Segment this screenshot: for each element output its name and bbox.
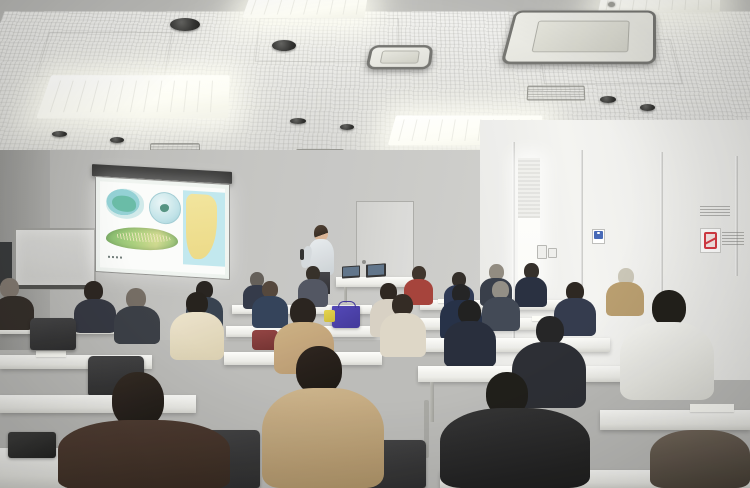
wall-outlet-plate[interactable] bbox=[548, 248, 557, 258]
ceiling-speaker-3 bbox=[52, 131, 67, 137]
ceiling-ac-unit-1 bbox=[500, 10, 656, 64]
attendee-body bbox=[380, 313, 426, 357]
attendee-body bbox=[114, 306, 160, 344]
ceiling-sprinkler-1 bbox=[608, 2, 615, 7]
attendee-body bbox=[650, 430, 750, 488]
ceiling-speaker-7 bbox=[600, 96, 616, 103]
attendee-body bbox=[444, 321, 496, 367]
attendee-body bbox=[74, 299, 116, 333]
ceiling-ac-unit-2 bbox=[365, 45, 433, 69]
handheld-microphone bbox=[300, 249, 304, 260]
wall-panel-seam-3 bbox=[660, 152, 663, 302]
presentation-slide bbox=[100, 181, 225, 274]
information-sign-blue bbox=[592, 229, 605, 244]
wall-panel-seam-4 bbox=[735, 156, 738, 276]
ceiling-speaker-6 bbox=[340, 124, 354, 130]
attendee-head bbox=[652, 290, 686, 326]
globe-inset bbox=[149, 191, 181, 225]
attendee-body bbox=[58, 420, 230, 488]
ceiling-panel-light-1 bbox=[36, 75, 229, 118]
ceiling-speaker-5 bbox=[290, 118, 306, 124]
attendee-body bbox=[0, 296, 34, 330]
attendee-body bbox=[515, 277, 547, 307]
nepal-terrain-map bbox=[106, 226, 178, 252]
attendee-head bbox=[536, 316, 564, 345]
ceiling-speaker-4 bbox=[110, 137, 124, 143]
chair-r4-1 bbox=[30, 318, 76, 350]
ceiling-speaker-1 bbox=[170, 18, 200, 31]
south-asia-map bbox=[183, 190, 225, 266]
tote-bag-blue bbox=[332, 306, 360, 328]
ceiling-air-vent-1 bbox=[527, 86, 586, 101]
table-leg-r4 bbox=[430, 382, 434, 422]
handout-papers-r4a bbox=[36, 351, 66, 357]
no-smoking-sign-red bbox=[700, 228, 721, 253]
lecture-hall-photo bbox=[0, 0, 750, 488]
table-row-5-left bbox=[0, 395, 196, 413]
map-scale-bar bbox=[108, 256, 122, 259]
window-blinds bbox=[518, 158, 540, 218]
door-knob[interactable] bbox=[362, 260, 366, 264]
table-row-3-right bbox=[412, 338, 610, 352]
ceiling-speaker-8 bbox=[640, 104, 655, 111]
yellow-bag bbox=[324, 310, 335, 322]
whiteboard bbox=[14, 228, 96, 290]
ceiling-panel-light-3 bbox=[242, 0, 368, 18]
attendee-body bbox=[606, 282, 644, 316]
wall-notice-top bbox=[700, 206, 730, 218]
attendee-body bbox=[620, 322, 714, 400]
attendee-body bbox=[440, 408, 590, 488]
attendee-body bbox=[170, 312, 224, 360]
attendee-body bbox=[252, 296, 288, 328]
wall-notice-right bbox=[722, 232, 744, 246]
attendee-head bbox=[296, 346, 342, 394]
table-row-5-right bbox=[600, 410, 750, 430]
presenter-laptop-1[interactable] bbox=[342, 265, 360, 278]
presenter-laptop-2[interactable] bbox=[366, 263, 386, 277]
handout-papers-r5a bbox=[690, 404, 734, 412]
attendee-body bbox=[262, 388, 384, 488]
ceiling-speaker-2 bbox=[272, 40, 296, 51]
attendee-head bbox=[84, 281, 103, 301]
asia-continent-map bbox=[106, 188, 144, 220]
light-switch-plate[interactable] bbox=[537, 245, 547, 259]
projection-screen bbox=[95, 176, 230, 280]
bag-black-foreground bbox=[8, 432, 56, 458]
attendee-head bbox=[0, 278, 19, 298]
